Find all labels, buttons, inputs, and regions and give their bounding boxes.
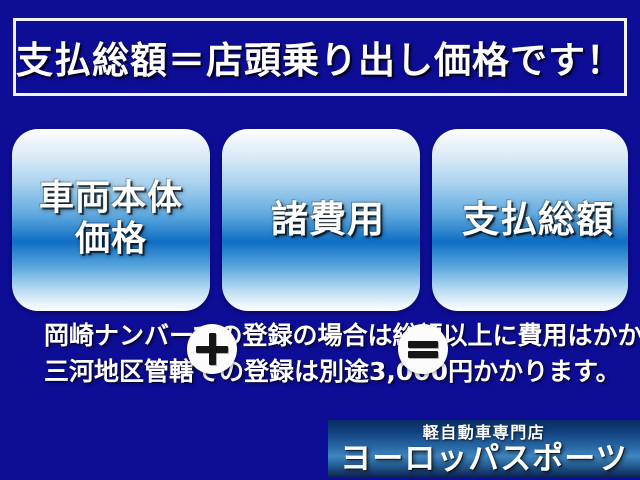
equals-icon-bottom-bar: [408, 351, 438, 358]
formula-box-total-payment-label: 支払総額: [432, 198, 628, 242]
note-line-1: 岡崎ナンバーでの登録の場合は総額以上に費用はかかりません。: [0, 318, 640, 354]
formula-box-misc-fees: 諸費用: [222, 129, 420, 311]
shop-logo: 軽自動車専門店 ヨーロッパスポーツ: [328, 420, 640, 478]
formula-box-total-payment: 支払総額: [432, 129, 628, 311]
formula-box-vehicle-price: 車両本体価格: [12, 129, 210, 311]
shop-logo-name: ヨーロッパスポーツ: [328, 443, 640, 476]
equals-icon-top-bar: [408, 341, 438, 348]
line-2: 価格: [75, 220, 147, 260]
formula-box-misc-fees-label: 諸費用: [222, 198, 420, 242]
plus-icon-vertical-bar: [209, 333, 216, 365]
formula-box-vehicle-price-label: 車両本体価格: [12, 179, 210, 262]
line-1: 車両本体: [39, 179, 183, 219]
formula-row: 車両本体価格 諸費用 支払総額: [0, 129, 640, 311]
shop-logo-subtitle: 軽自動車専門店: [328, 424, 640, 442]
price-banner: 支払総額＝店頭乗り出し価格です！ 車両本体価格 諸費用 支払総額 岡崎ナンバーで…: [0, 0, 640, 480]
header-title: 支払総額＝店頭乗り出し価格です！: [16, 30, 624, 84]
note-line-2: 三河地区管轄での登録は別途3,000円かかります。: [0, 354, 640, 390]
notes-block: 岡崎ナンバーでの登録の場合は総額以上に費用はかかりません。 三河地区管轄での登録…: [0, 318, 640, 389]
equals-icon: [398, 324, 448, 374]
header-frame: 支払総額＝店頭乗り出し価格です！: [13, 18, 627, 96]
plus-icon: [187, 324, 237, 374]
